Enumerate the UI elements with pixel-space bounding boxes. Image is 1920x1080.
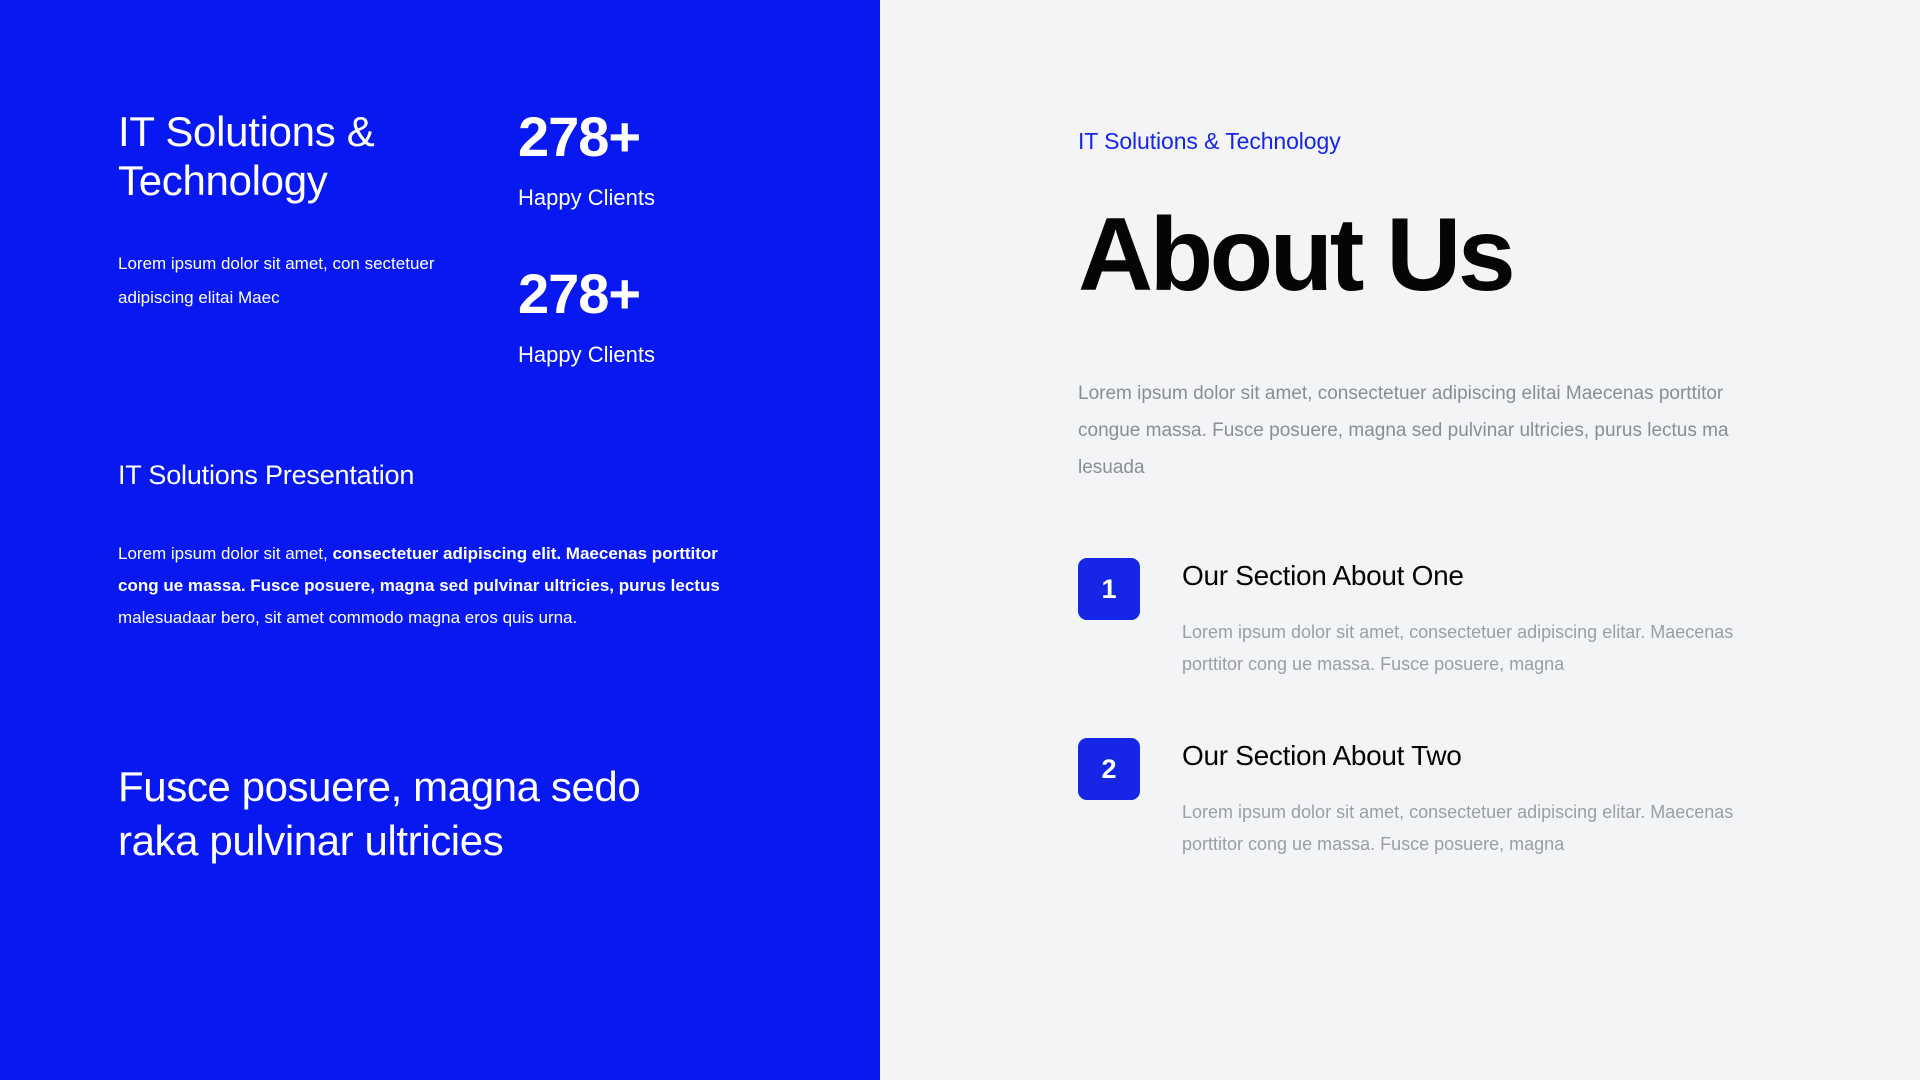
presentation-body-lead: Lorem ipsum dolor sit amet, [118, 544, 332, 563]
right-content-panel: IT Solutions & Technology About Us Lorem… [880, 0, 1920, 1080]
stats-column: 278+ Happy Clients 278+ Happy Clients [488, 108, 748, 368]
section-heading: Our Section About Two [1182, 740, 1838, 772]
about-description: Lorem ipsum dolor sit amet, consectetuer… [1078, 375, 1768, 486]
section-text-block: Our Section About Two Lorem ipsum dolor … [1182, 738, 1838, 860]
left-blue-panel: IT Solutions & Technology Lorem ipsum do… [0, 0, 880, 1080]
eyebrow-label: IT Solutions & Technology [1078, 128, 1838, 155]
big-quote: Fusce posuere, magna sedo raka pulvinar … [118, 760, 718, 868]
stat-label: Happy Clients [518, 185, 748, 211]
hero-subtitle: Lorem ipsum dolor sit amet, con sectetue… [118, 247, 448, 313]
hero-text-column: IT Solutions & Technology Lorem ipsum do… [118, 108, 478, 368]
section-number-badge: 2 [1078, 738, 1140, 800]
list-item: 1 Our Section About One Lorem ipsum dolo… [1078, 558, 1838, 680]
stat-value: 278+ [518, 108, 748, 167]
about-us-slide: IT Solutions & Technology Lorem ipsum do… [0, 0, 1920, 1080]
presentation-title: IT Solutions Presentation [118, 460, 414, 491]
section-description: Lorem ipsum dolor sit amet, consectetuer… [1182, 796, 1782, 860]
list-item: 2 Our Section About Two Lorem ipsum dolo… [1078, 738, 1838, 860]
stat-block: 278+ Happy Clients [518, 265, 748, 368]
presentation-body: Lorem ipsum dolor sit amet, consectetuer… [118, 538, 733, 634]
left-content-wrapper: IT Solutions & Technology Lorem ipsum do… [118, 0, 818, 1080]
stat-value: 278+ [518, 265, 748, 324]
hero-row: IT Solutions & Technology Lorem ipsum do… [118, 108, 818, 368]
section-number-badge: 1 [1078, 558, 1140, 620]
page-title: About Us [1078, 203, 1838, 307]
sections-list: 1 Our Section About One Lorem ipsum dolo… [1078, 558, 1838, 860]
presentation-body-tail: malesuadaar bero, sit amet commodo magna… [118, 608, 577, 627]
section-description: Lorem ipsum dolor sit amet, consectetuer… [1182, 616, 1782, 680]
right-content-wrapper: IT Solutions & Technology About Us Lorem… [1078, 0, 1838, 860]
stat-label: Happy Clients [518, 342, 748, 368]
stat-block: 278+ Happy Clients [518, 108, 748, 211]
hero-title: IT Solutions & Technology [118, 108, 478, 205]
section-heading: Our Section About One [1182, 560, 1838, 592]
section-text-block: Our Section About One Lorem ipsum dolor … [1182, 558, 1838, 680]
